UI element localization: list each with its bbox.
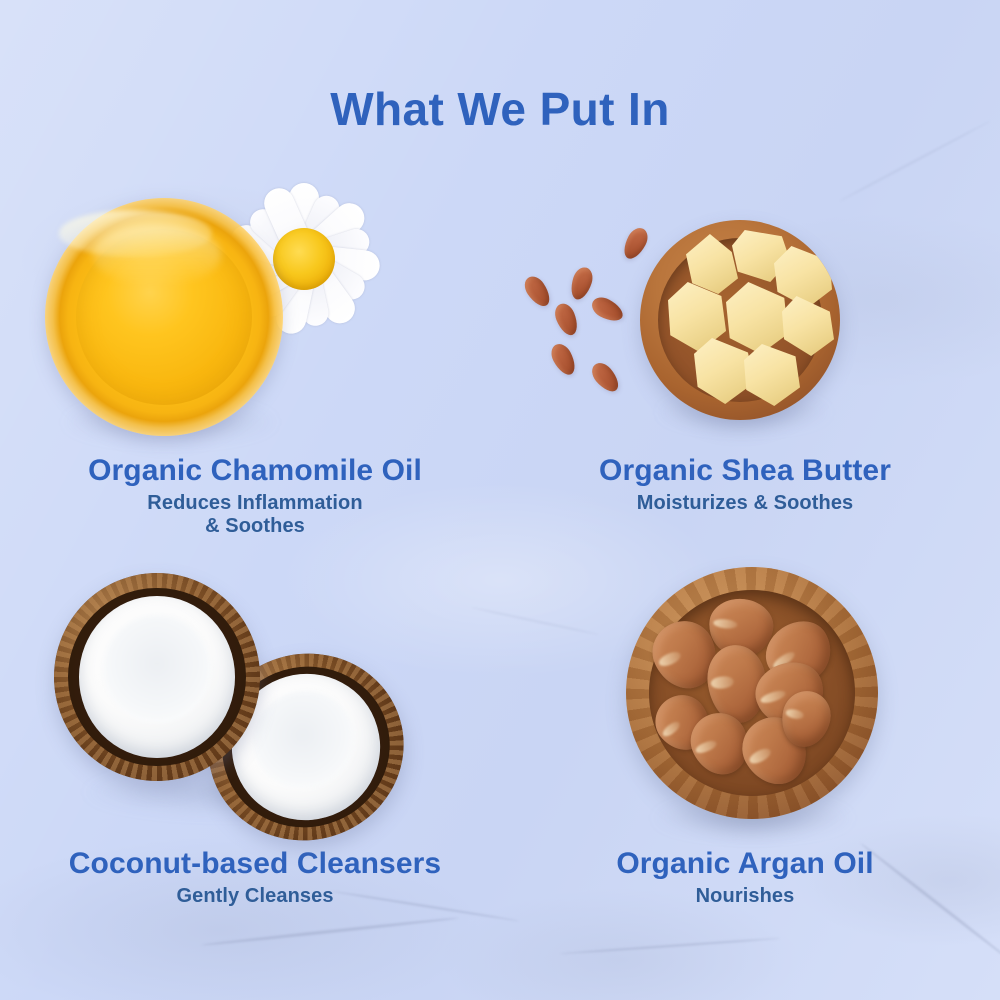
glass-rim-highlight (59, 210, 211, 258)
ingredient-name: Organic Argan Oil (510, 848, 980, 880)
coconut-hollow (103, 615, 210, 723)
oil-bowl (45, 198, 283, 436)
coconut-half-left (54, 573, 260, 781)
ingredient-card-argan: Organic Argan Oil Nourishes (510, 558, 980, 908)
nut-scar (711, 675, 734, 690)
argan-caption: Organic Argan Oil Nourishes (510, 848, 980, 908)
ingredient-benefit: Moisturizes & Soothes (510, 492, 980, 515)
ingredient-poster: What We Put In (0, 0, 1000, 1000)
benefit-line-2: & Soothes (20, 515, 490, 538)
nut-scar (713, 618, 738, 630)
shea-nut (520, 273, 554, 311)
chamomile-caption: Organic Chamomile Oil Reduces Inflammati… (20, 455, 490, 538)
nut-scar (759, 688, 787, 705)
shea-butter-image (510, 165, 980, 455)
page-title: What We Put In (0, 82, 1000, 136)
shea-caption: Organic Shea Butter Moisturizes & Soothe… (510, 455, 980, 515)
ingredient-grid: Organic Chamomile Oil Reduces Inflammati… (0, 165, 1000, 965)
shea-nut (552, 301, 582, 339)
shea-nut (619, 224, 651, 262)
shea-nut (588, 293, 626, 325)
shea-nut (547, 340, 579, 378)
ingredient-benefit: Gently Cleanses (20, 885, 490, 908)
wooden-bowl (640, 220, 840, 420)
ingredient-benefit: Nourishes (510, 885, 980, 908)
ingredient-card-coconut: Coconut-based Cleansers Gently Cleanses (20, 558, 490, 908)
flower-center (273, 228, 335, 290)
nut-scar (657, 649, 683, 669)
nut-scar (661, 720, 682, 739)
benefit-line-1: Reduces Inflammation (20, 492, 490, 515)
ingredient-benefit: Reduces Inflammation & Soothes (20, 492, 490, 538)
wooden-bowl (626, 567, 878, 819)
ingredient-name: Organic Chamomile Oil (20, 455, 490, 487)
ingredient-card-shea: Organic Shea Butter Moisturizes & Soothe… (510, 165, 980, 515)
chamomile-oil-image (20, 165, 490, 455)
nut-scar (747, 746, 773, 767)
ingredient-name: Organic Shea Butter (510, 455, 980, 487)
coconut-caption: Coconut-based Cleansers Gently Cleanses (20, 848, 490, 908)
ingredient-card-chamomile: Organic Chamomile Oil Reduces Inflammati… (20, 165, 490, 538)
ingredient-name: Coconut-based Cleansers (20, 848, 490, 880)
coconut-image (20, 558, 490, 848)
nut-scar (694, 738, 717, 755)
shea-nut (567, 265, 595, 302)
argan-nuts-image (510, 558, 980, 848)
shea-nut (588, 359, 624, 396)
nut-scar (785, 708, 805, 721)
